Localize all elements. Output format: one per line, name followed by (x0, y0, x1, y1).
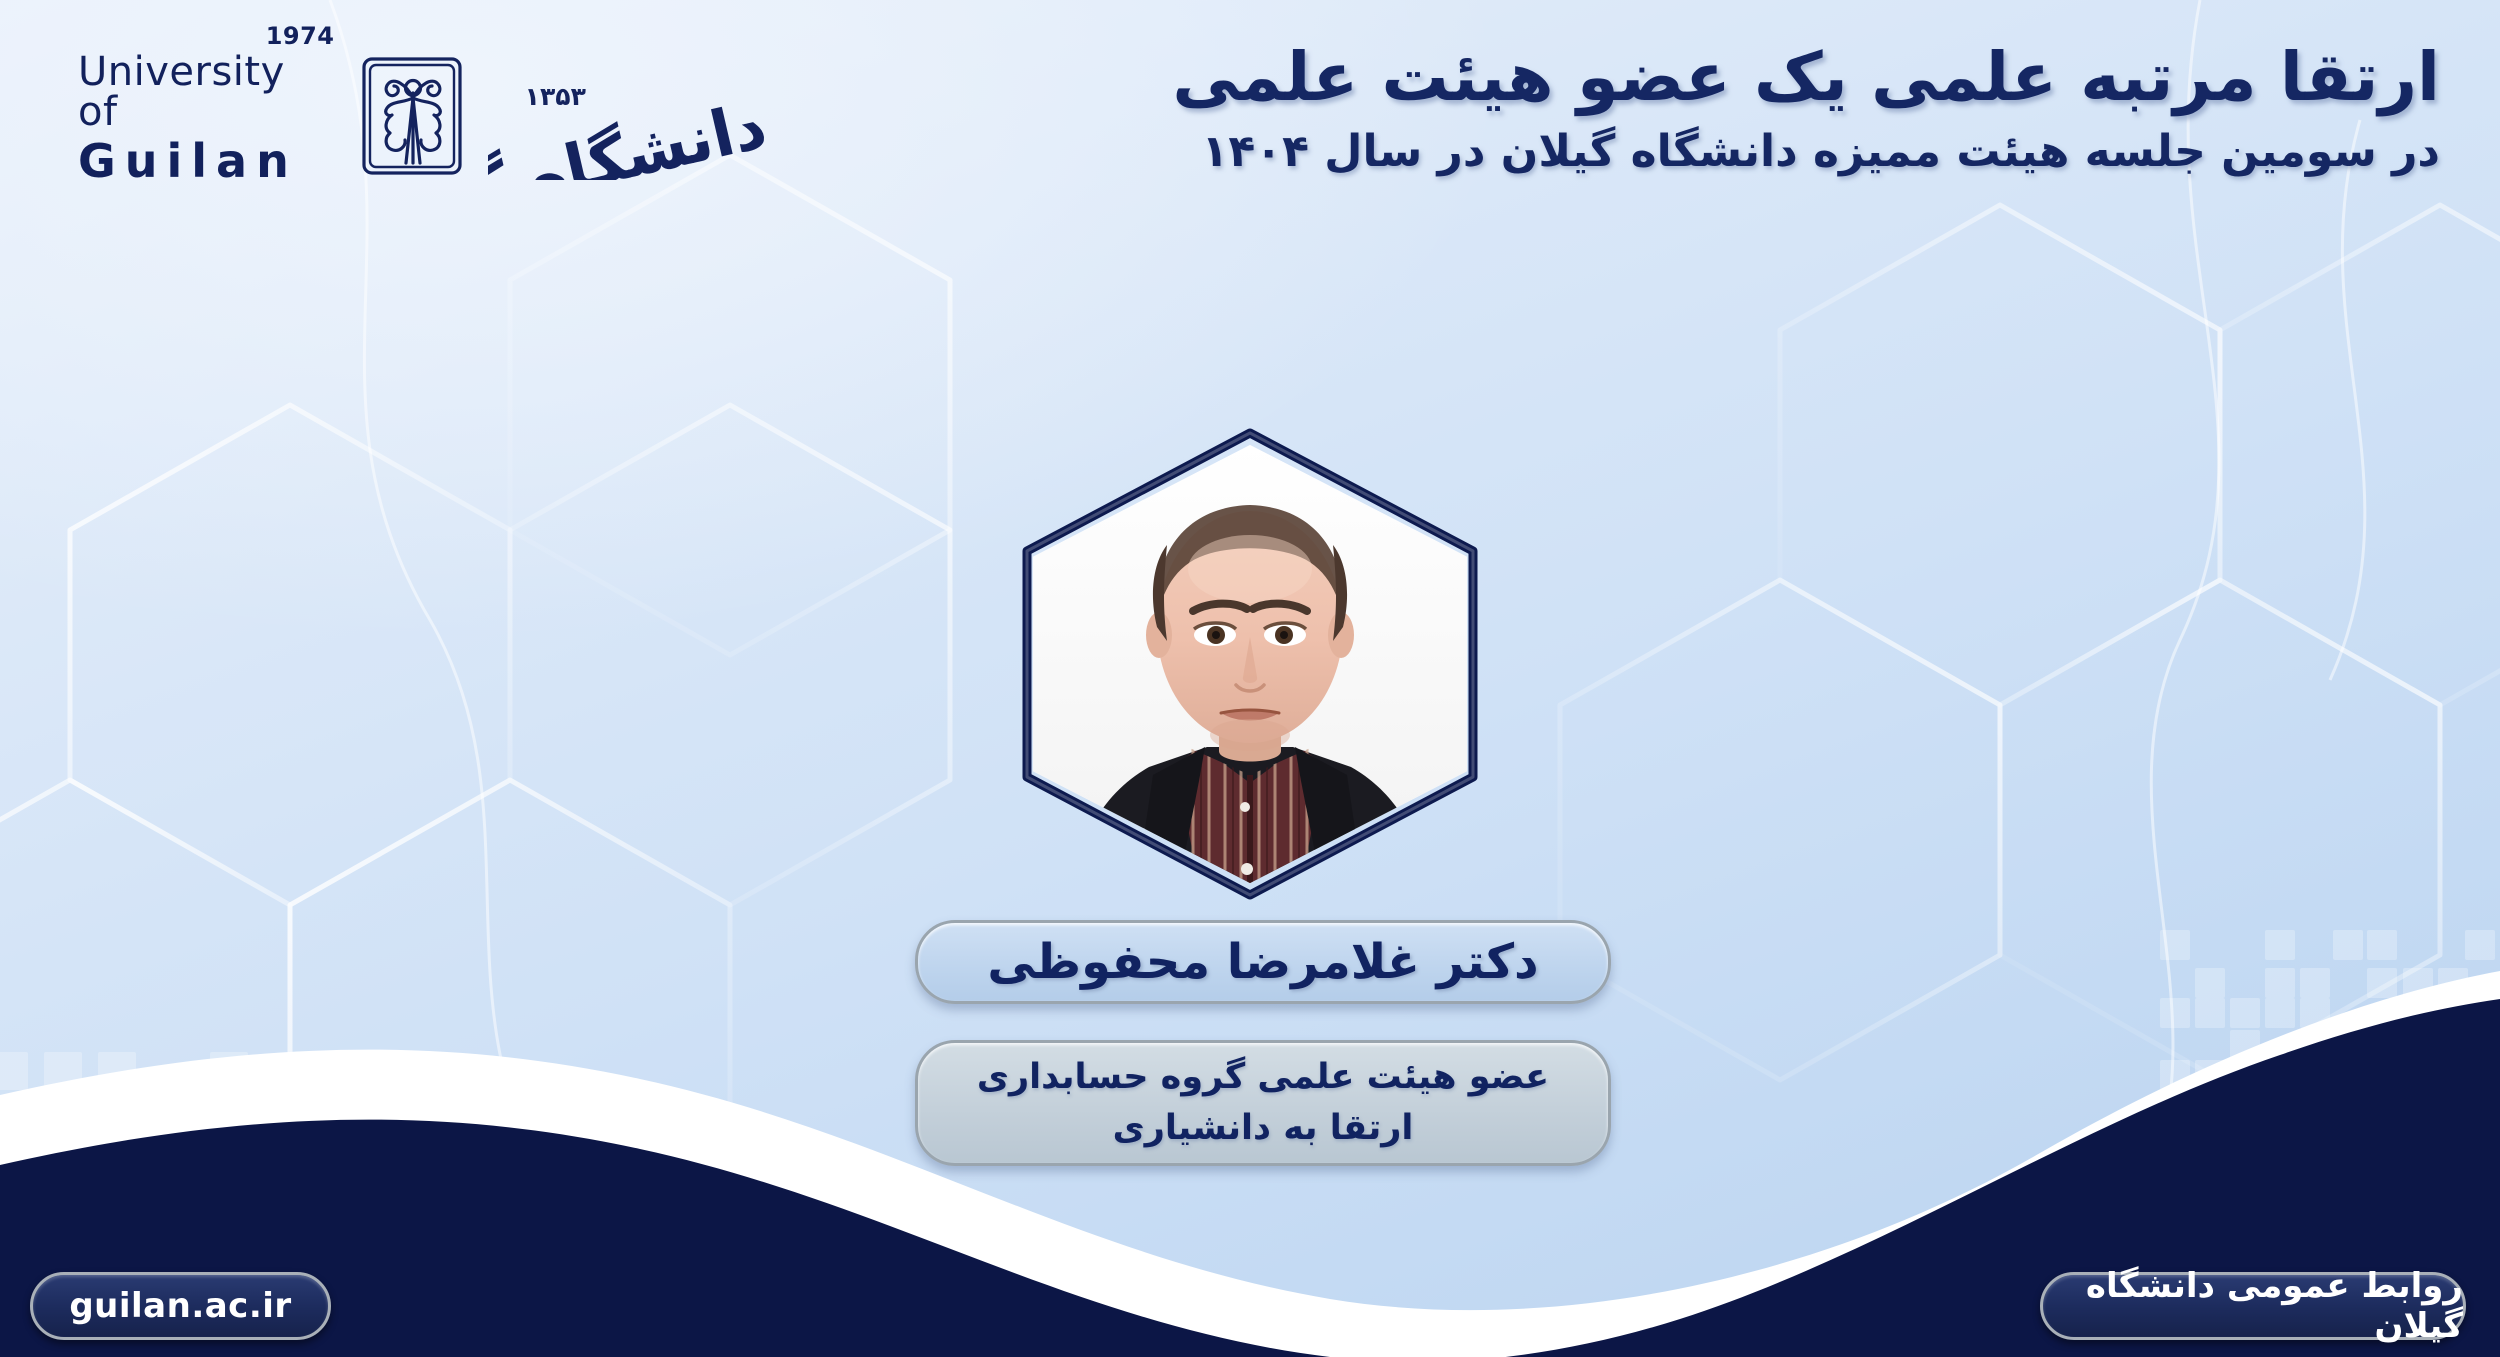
logo-guilan: Guilan (78, 138, 328, 184)
page-subtitle: در سومین جلسه هیئت ممیزه دانشگاه گیلان د… (840, 123, 2440, 180)
logo-persian-text: دانشگاه گیلان ۱۳۵۳ (488, 45, 778, 185)
logo-english-text: 1974 University of Guilan (78, 46, 328, 184)
person-name-badge: دکتر غلامرضا محفوظی (915, 920, 1611, 1004)
header-text-block: ارتقا مرتبه علمی یک عضو هیئت علمی در سوم… (840, 38, 2440, 180)
square-grid-bottom-left (0, 1048, 320, 1288)
person-role-badge: عضو هیئت علمی گروه حسابداری ارتقا به دان… (915, 1040, 1611, 1166)
person-role-line-2: ارتقا به دانشیاری (1113, 1103, 1414, 1154)
logo-founding-year-fa: ۱۳۵۳ (525, 82, 586, 111)
person-name: دکتر غلامرضا محفوظی (987, 934, 1538, 990)
hexagon-outline-group-right (1560, 205, 2500, 1080)
logo-university-of: University of (78, 52, 328, 132)
person-role-line-1: عضو هیئت علمی گروه حسابداری (977, 1052, 1549, 1103)
logo-founding-year-en: 1974 (266, 24, 335, 48)
public-relations-label: روابط عمومی دانشگاه گیلان (2043, 1266, 2463, 1346)
page-title: ارتقا مرتبه علمی یک عضو هیئت علمی (840, 38, 2440, 117)
hexagon-outline-group-left (0, 405, 730, 1280)
public-relations-pill[interactable]: روابط عمومی دانشگاه گیلان (2040, 1272, 2466, 1340)
hexagon-outline-group-left2 (510, 155, 950, 905)
square-grid-right (2155, 930, 2500, 1170)
website-pill[interactable]: guilan.ac.ir (30, 1272, 331, 1340)
poster-canvas: 1974 University of Guilan (0, 0, 2500, 1357)
university-logo: 1974 University of Guilan (78, 40, 778, 190)
hexagon-outline-icon (1011, 427, 1489, 901)
portrait-hexagon-frame (1011, 427, 1489, 901)
guilan-butterfly-emblem-icon (354, 51, 472, 179)
website-url: guilan.ac.ir (69, 1286, 291, 1326)
